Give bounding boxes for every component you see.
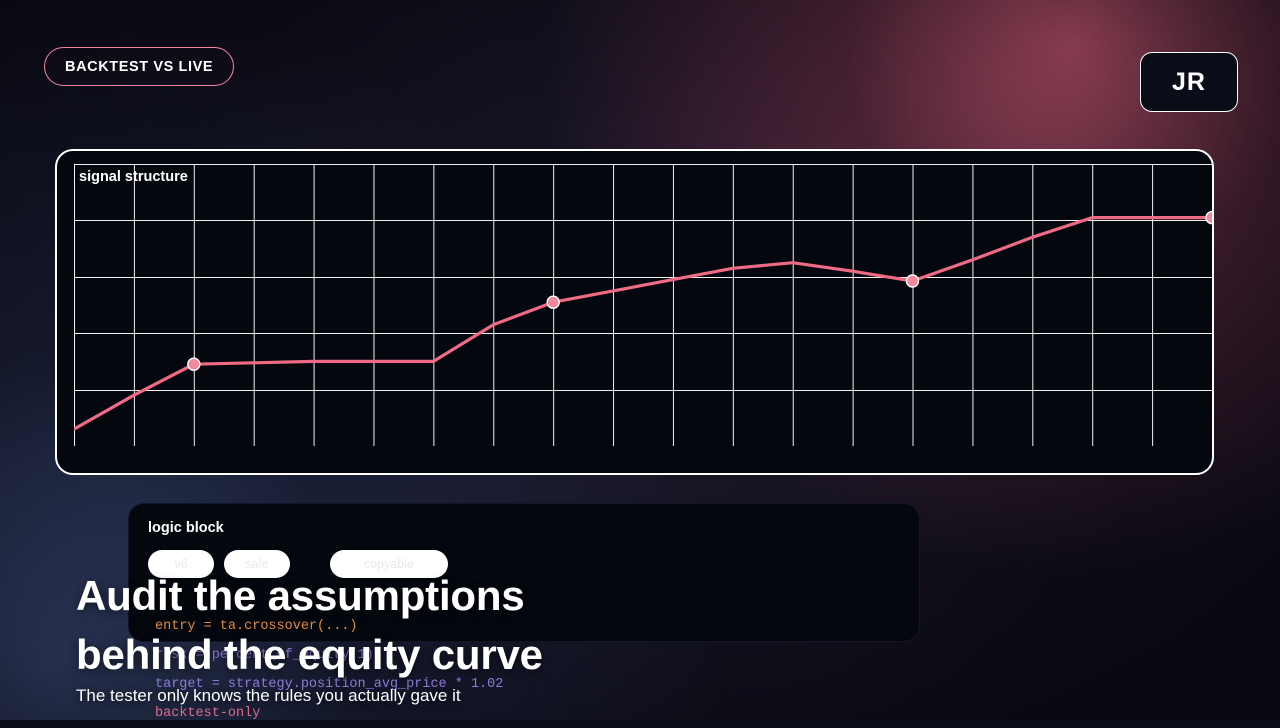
chart-card: signal structure (55, 149, 1214, 475)
equity-curve-plot (74, 164, 1212, 446)
chart-title: signal structure (79, 169, 188, 185)
avatar-initials: JR (1172, 68, 1206, 97)
mode-badge: BACKTEST VS LIVE (44, 47, 234, 86)
logic-card-title: logic block (148, 520, 224, 536)
avatar[interactable]: JR (1140, 52, 1238, 112)
equity-curve-svg (74, 164, 1212, 446)
mode-badge-label: BACKTEST VS LIVE (65, 59, 213, 75)
headline: Audit the assumptions behind the equity … (76, 566, 836, 684)
headline-line-2: behind the equity curve (76, 625, 836, 684)
headline-line-1: Audit the assumptions (76, 566, 836, 625)
subheadline: The tester only knows the rules you actu… (76, 686, 461, 706)
